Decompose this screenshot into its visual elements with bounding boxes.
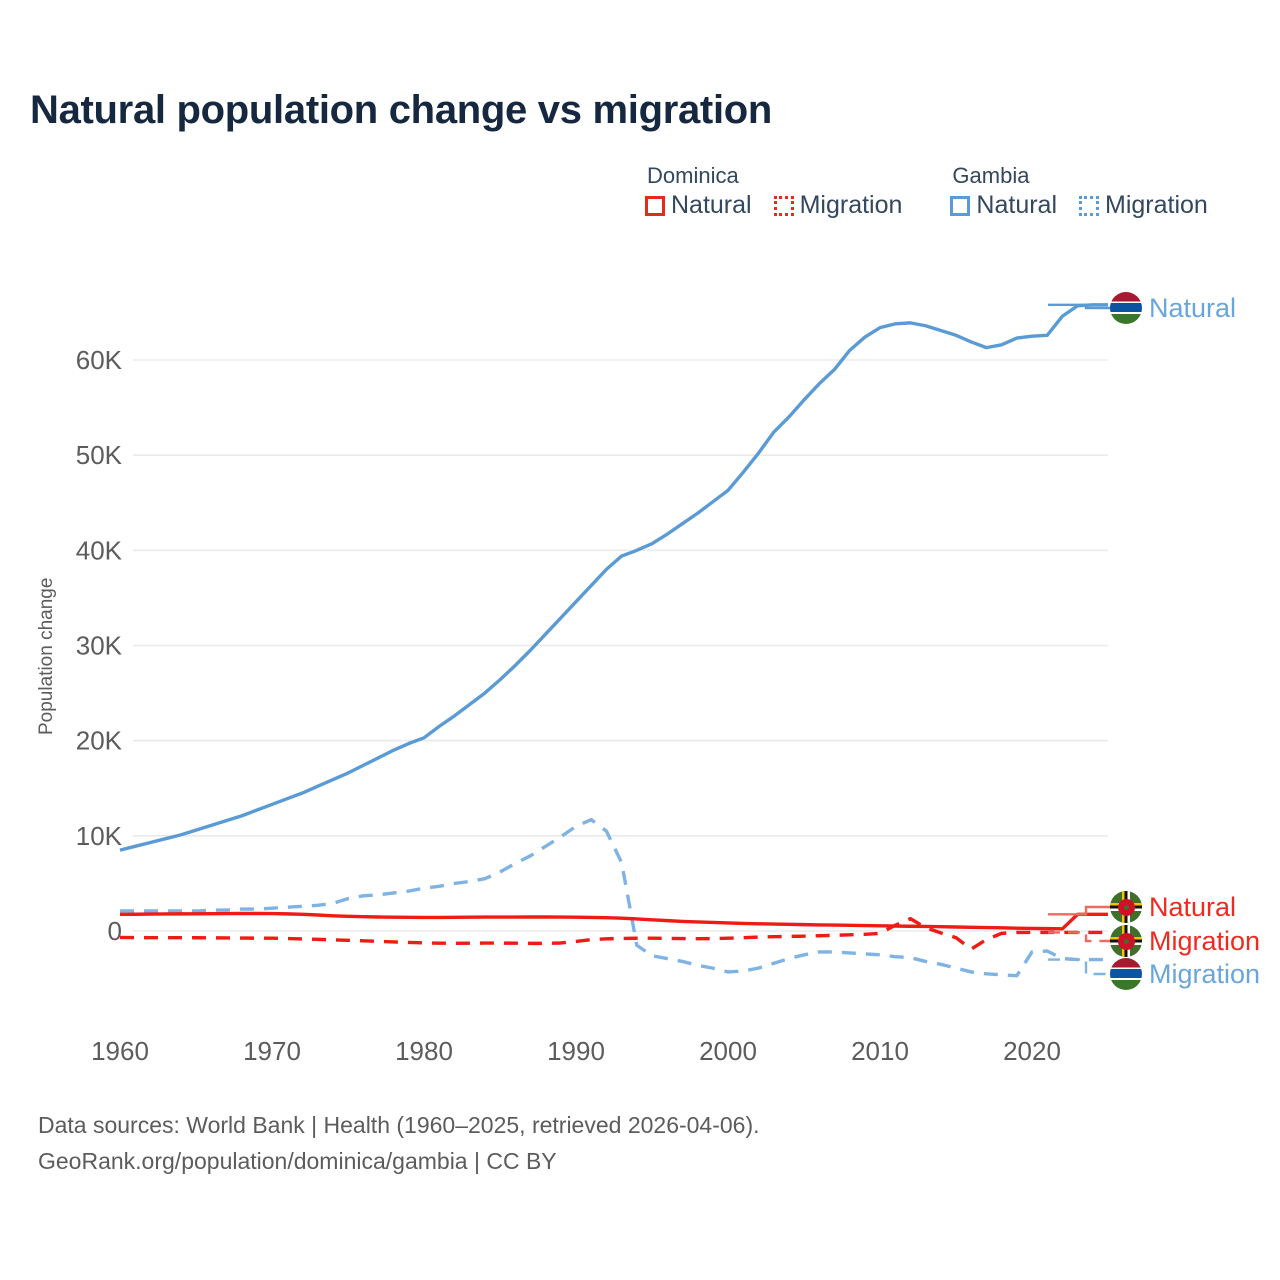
end-label-text-gambia-natural: Natural bbox=[1149, 295, 1236, 322]
end-label-gambia-natural[interactable]: Natural bbox=[1110, 292, 1236, 324]
end-label-text-dominica-natural: Natural bbox=[1149, 894, 1236, 921]
chart-footer: Data sources: World Bank | Health (1960–… bbox=[38, 1108, 760, 1179]
series-line-dominica-natural bbox=[120, 913, 1108, 928]
dominica-flag-disc bbox=[1118, 933, 1135, 950]
gambia-flag-icon bbox=[1110, 292, 1142, 324]
x-tick-label: 2020 bbox=[1003, 1036, 1061, 1066]
gambia-flag-icon bbox=[1110, 958, 1142, 990]
dominica-flag-disc bbox=[1118, 899, 1135, 916]
y-tick-label: 60K bbox=[76, 345, 123, 375]
x-tick-label: 2010 bbox=[851, 1036, 909, 1066]
chart-page: Natural population change vs migration D… bbox=[0, 0, 1280, 1280]
y-axis-title: Population change bbox=[36, 578, 57, 735]
leader-line-gambia-migration bbox=[1048, 960, 1112, 974]
y-tick-label: 30K bbox=[76, 631, 123, 661]
end-label-gambia-migration[interactable]: Migration bbox=[1110, 958, 1260, 990]
y-tick-label: 10K bbox=[76, 821, 123, 851]
y-tick-label: 40K bbox=[76, 535, 123, 565]
y-tick-label: 0 bbox=[108, 916, 122, 946]
x-tick-label: 2000 bbox=[699, 1036, 757, 1066]
x-tick-label: 1970 bbox=[243, 1036, 301, 1066]
chart-plot-area: 010K20K30K40K50K60K 19601970198019902000… bbox=[0, 0, 1280, 1280]
label-leader-lines bbox=[1048, 305, 1112, 974]
y-axis-tick-labels: 010K20K30K40K50K60K bbox=[76, 345, 123, 946]
x-tick-label: 1990 bbox=[547, 1036, 605, 1066]
x-tick-label: 1980 bbox=[395, 1036, 453, 1066]
series-line-gambia-natural bbox=[120, 305, 1108, 850]
x-axis-tick-labels: 1960197019801990200020102020 bbox=[91, 1036, 1061, 1066]
line-chart-svg: 010K20K30K40K50K60K 19601970198019902000… bbox=[0, 0, 1280, 1280]
dominica-flag-icon bbox=[1110, 891, 1142, 923]
leader-line-dominica-migration bbox=[1048, 932, 1112, 941]
footer-attribution: GeoRank.org/population/dominica/gambia |… bbox=[38, 1144, 760, 1180]
x-tick-label: 1960 bbox=[91, 1036, 149, 1066]
y-tick-label: 20K bbox=[76, 726, 123, 756]
data-series-group bbox=[120, 305, 1108, 976]
series-line-dominica-migration bbox=[120, 919, 1108, 949]
end-label-text-dominica-migration: Migration bbox=[1149, 928, 1260, 955]
gridlines bbox=[133, 360, 1108, 931]
y-tick-label: 50K bbox=[76, 440, 123, 470]
footer-data-sources: Data sources: World Bank | Health (1960–… bbox=[38, 1108, 760, 1144]
end-label-dominica-natural[interactable]: Natural bbox=[1110, 891, 1236, 923]
series-line-gambia-migration bbox=[120, 820, 1108, 976]
end-label-dominica-migration[interactable]: Migration bbox=[1110, 925, 1260, 957]
dominica-flag-icon bbox=[1110, 925, 1142, 957]
end-label-text-gambia-migration: Migration bbox=[1149, 961, 1260, 988]
